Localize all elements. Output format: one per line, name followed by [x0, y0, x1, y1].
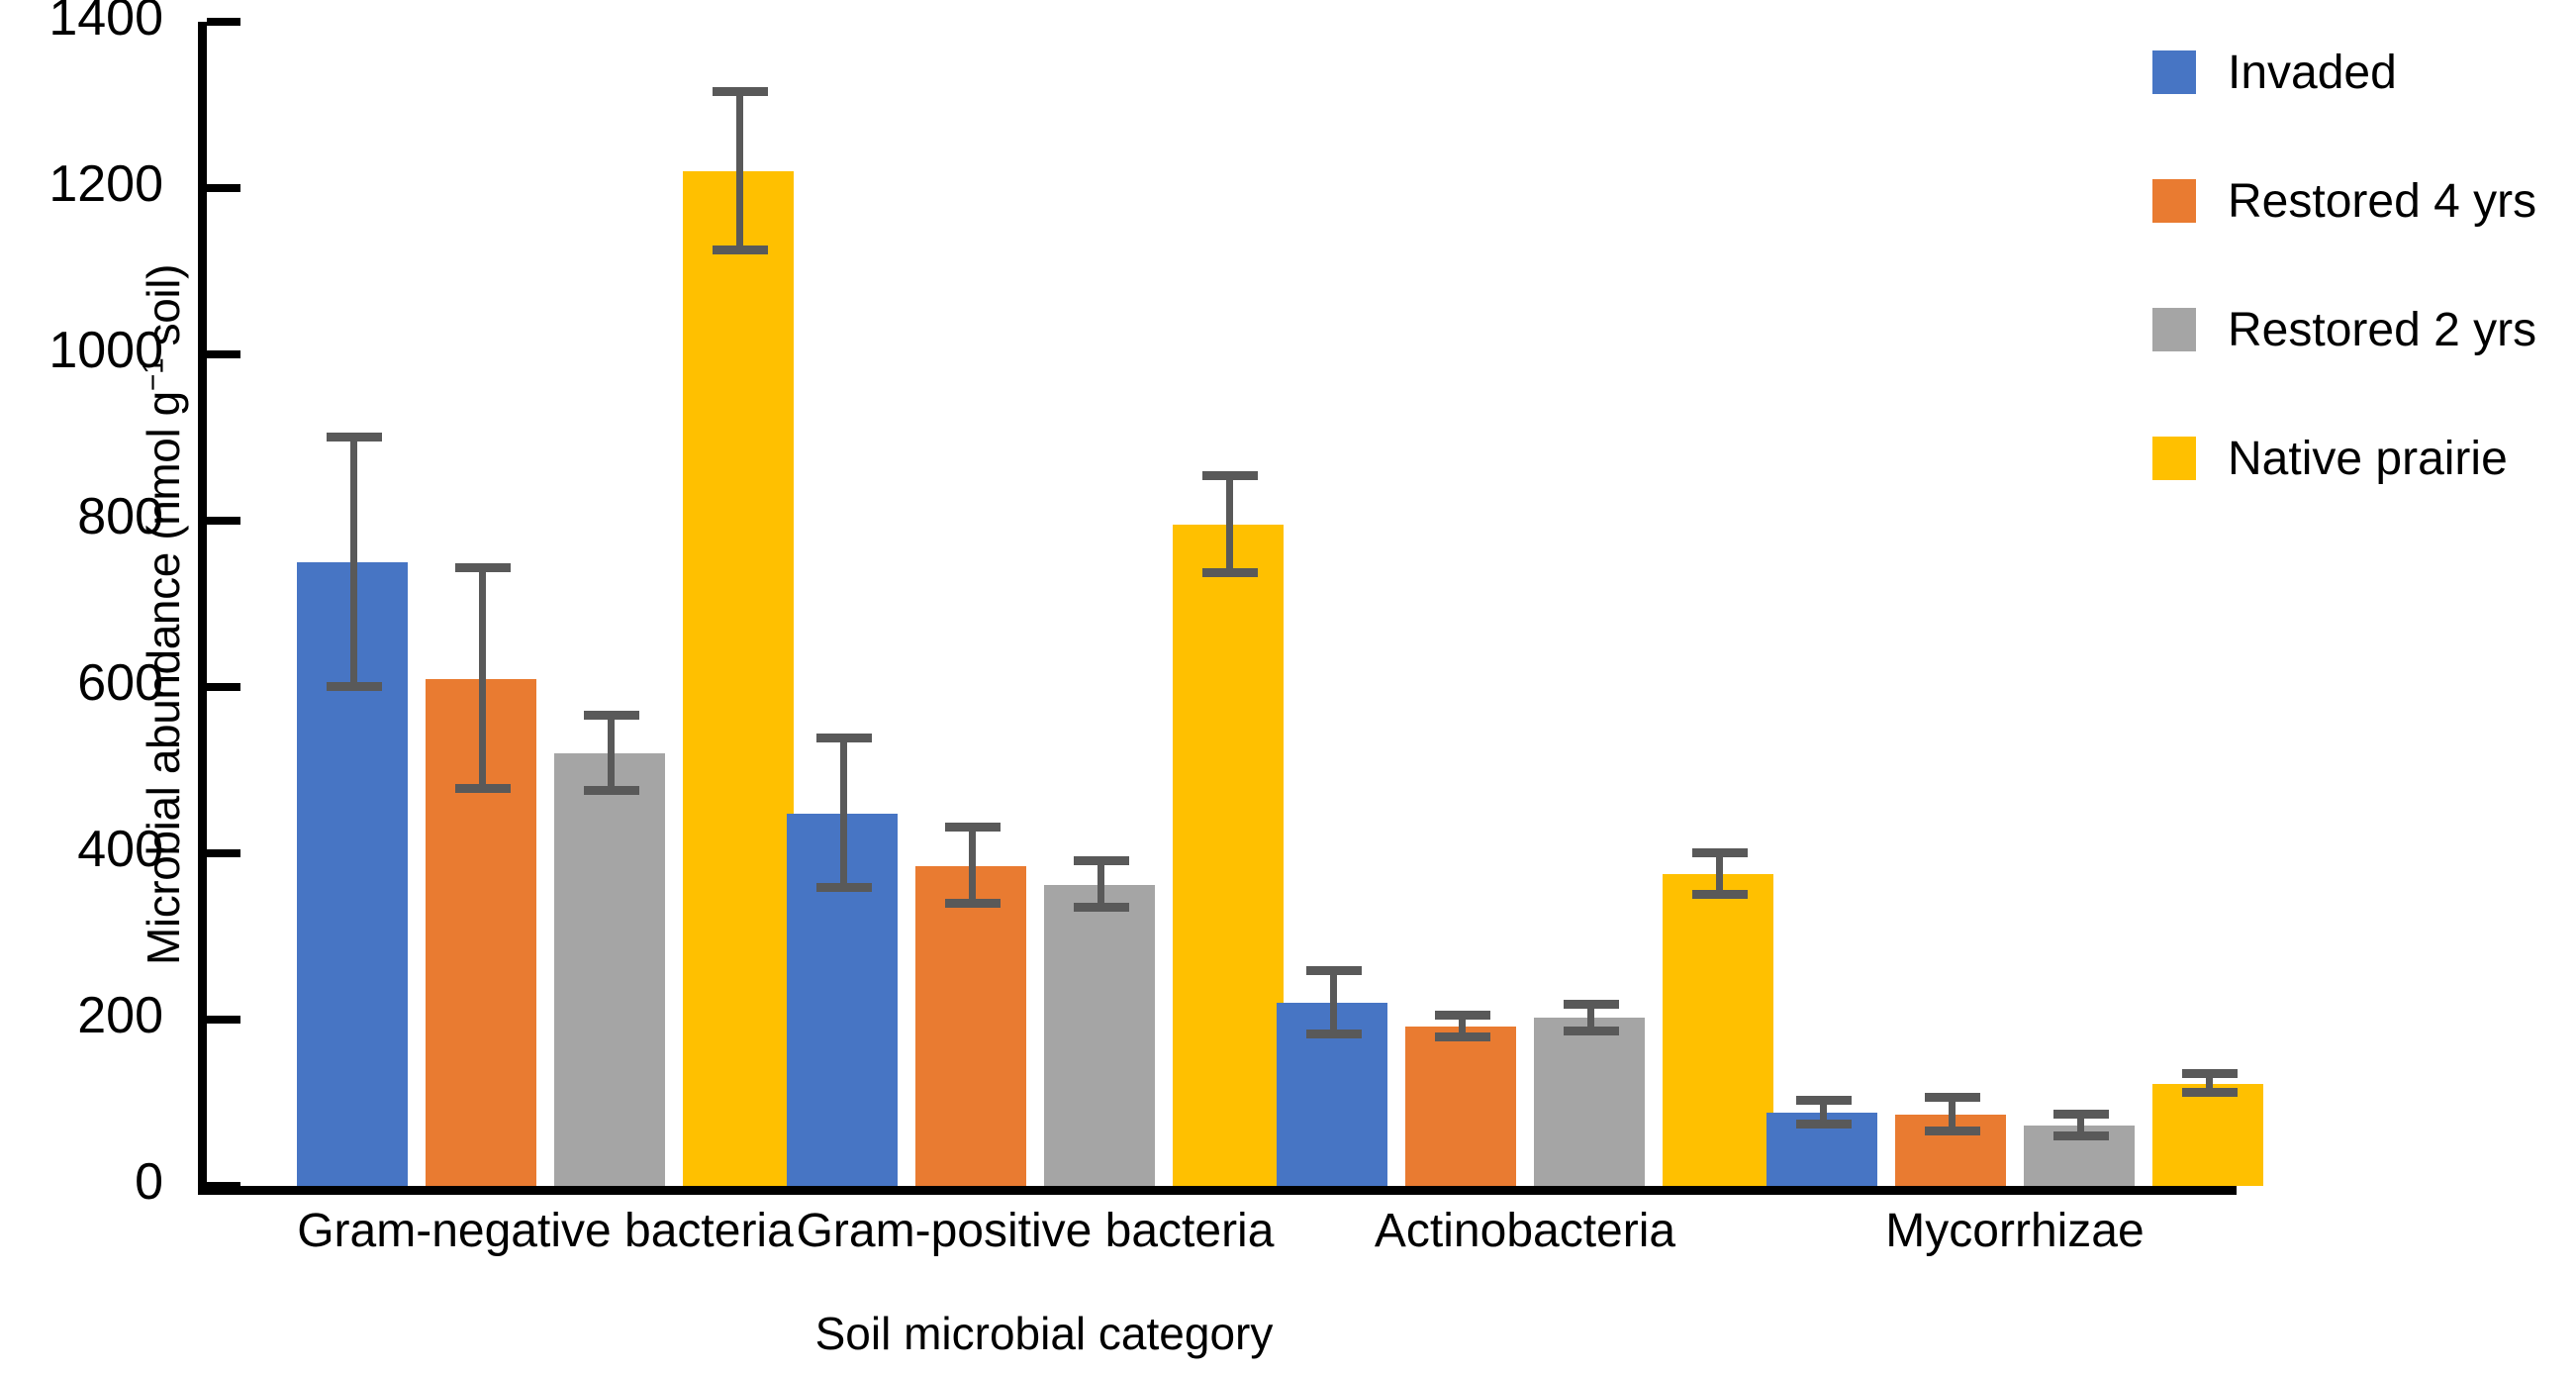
y-tick-label: 1200 [0, 158, 163, 210]
error-bar-cap-lower [945, 899, 1001, 908]
bar-with-error[interactable] [297, 418, 408, 1186]
error-bar-cap-upper [455, 563, 511, 572]
legend: InvadedRestored 4 yrsRestored 2 yrsNativ… [2152, 40, 2536, 554]
error-bar-cap-upper [1796, 1096, 1852, 1105]
bar[interactable] [915, 866, 1026, 1186]
error-bar-cap-lower [2053, 1131, 2109, 1140]
bar-with-error[interactable] [2152, 1054, 2263, 1186]
bar-with-error[interactable] [1766, 1081, 1877, 1186]
error-bar-cap-upper [713, 87, 768, 96]
plot-area [198, 22, 2088, 1186]
bar-with-error[interactable] [1405, 996, 1516, 1186]
legend-item[interactable]: Restored 4 yrs [2152, 168, 2536, 234]
error-bar-line [1330, 971, 1337, 1034]
error-bar-cap-upper [1435, 1011, 1490, 1020]
bar[interactable] [1663, 874, 1773, 1186]
bar-with-error[interactable] [683, 72, 794, 1186]
error-bar-cap-upper [2182, 1069, 2238, 1078]
error-bar-cap-lower [584, 786, 639, 795]
y-tick-label: 800 [0, 491, 163, 542]
legend-label: Restored 2 yrs [2228, 303, 2536, 357]
y-tick-label: 1400 [0, 0, 163, 44]
bar-with-error[interactable] [2024, 1095, 2135, 1186]
error-bar-cap-lower [2182, 1088, 2238, 1097]
error-bar-line [736, 92, 743, 250]
legend-item[interactable]: Invaded [2152, 40, 2536, 105]
error-bar-line [1097, 861, 1104, 908]
error-bar-cap-upper [1306, 966, 1362, 975]
error-bar-cap-lower [816, 883, 872, 892]
legend-swatch [2152, 437, 2196, 480]
error-bar-line [1716, 853, 1723, 895]
y-tick-label: 0 [0, 1156, 163, 1208]
error-bar-cap-upper [327, 433, 382, 442]
bar-with-error[interactable] [1044, 841, 1155, 1186]
bar-with-error[interactable] [1534, 985, 1645, 1186]
error-bar-cap-lower [1564, 1027, 1619, 1035]
y-tick-label: 200 [0, 990, 163, 1041]
bar[interactable] [1405, 1027, 1516, 1186]
y-tick-label: 1000 [0, 325, 163, 376]
error-bar-cap-lower [713, 245, 768, 254]
error-bar-line [608, 716, 615, 791]
error-bar-cap-upper [584, 711, 639, 720]
y-axis-title: Microbial abundance (nmol g−1 soil) [137, 120, 190, 1110]
bar-with-error[interactable] [554, 696, 665, 1186]
bar[interactable] [1173, 525, 1284, 1186]
error-bar-cap-lower [1925, 1127, 1980, 1135]
bar[interactable] [2152, 1084, 2263, 1186]
error-bar-cap-lower [1796, 1120, 1852, 1129]
error-bar-cap-lower [455, 784, 511, 793]
error-bar-line [479, 568, 486, 789]
error-bar-cap-lower [1306, 1030, 1362, 1038]
bar-with-error[interactable] [787, 719, 898, 1186]
error-bar-cap-lower [1692, 890, 1748, 899]
error-bar-line [1226, 476, 1233, 572]
error-bar-cap-lower [1202, 568, 1258, 577]
error-bar-cap-upper [1564, 1000, 1619, 1009]
error-bar-cap-lower [1435, 1032, 1490, 1041]
error-bar-cap-upper [816, 734, 872, 742]
y-tick-label: 600 [0, 657, 163, 709]
bar-with-error[interactable] [1663, 834, 1773, 1186]
bar[interactable] [1044, 885, 1155, 1186]
bar[interactable] [683, 171, 794, 1186]
legend-label: Restored 4 yrs [2228, 174, 2536, 229]
bar-with-error[interactable] [915, 808, 1026, 1186]
legend-swatch [2152, 179, 2196, 223]
error-bar-cap-lower [1074, 903, 1129, 912]
bar-with-error[interactable] [1173, 456, 1284, 1186]
error-bar-cap-upper [1925, 1093, 1980, 1102]
bar-with-error[interactable] [1895, 1078, 2006, 1186]
error-bar-line [969, 828, 976, 904]
y-tick-label: 400 [0, 824, 163, 875]
bar[interactable] [554, 753, 665, 1186]
error-bar-cap-upper [1074, 856, 1129, 865]
legend-item[interactable]: Native prairie [2152, 426, 2536, 491]
chart-figure: Microbial abundance (nmol g−1 soil) 0200… [0, 0, 2576, 1374]
bar-with-error[interactable] [426, 548, 536, 1186]
bar[interactable] [1534, 1018, 1645, 1186]
error-bar-cap-upper [945, 823, 1001, 832]
x-tick-label: Mycorrhizae [1570, 1204, 2460, 1258]
legend-label: Native prairie [2228, 432, 2508, 486]
bar-with-error[interactable] [1277, 951, 1387, 1186]
error-bar-cap-lower [327, 682, 382, 691]
legend-label: Invaded [2228, 46, 2397, 100]
error-bar-cap-upper [2053, 1110, 2109, 1119]
legend-swatch [2152, 50, 2196, 94]
x-axis-line [198, 1186, 2237, 1195]
error-bar-cap-upper [1202, 471, 1258, 480]
error-bar-line [840, 738, 847, 888]
x-axis-title: Soil microbial category [0, 1307, 2088, 1360]
legend-swatch [2152, 308, 2196, 351]
error-bar-cap-upper [1692, 848, 1748, 857]
legend-item[interactable]: Restored 2 yrs [2152, 297, 2536, 362]
error-bar-line [350, 438, 357, 687]
